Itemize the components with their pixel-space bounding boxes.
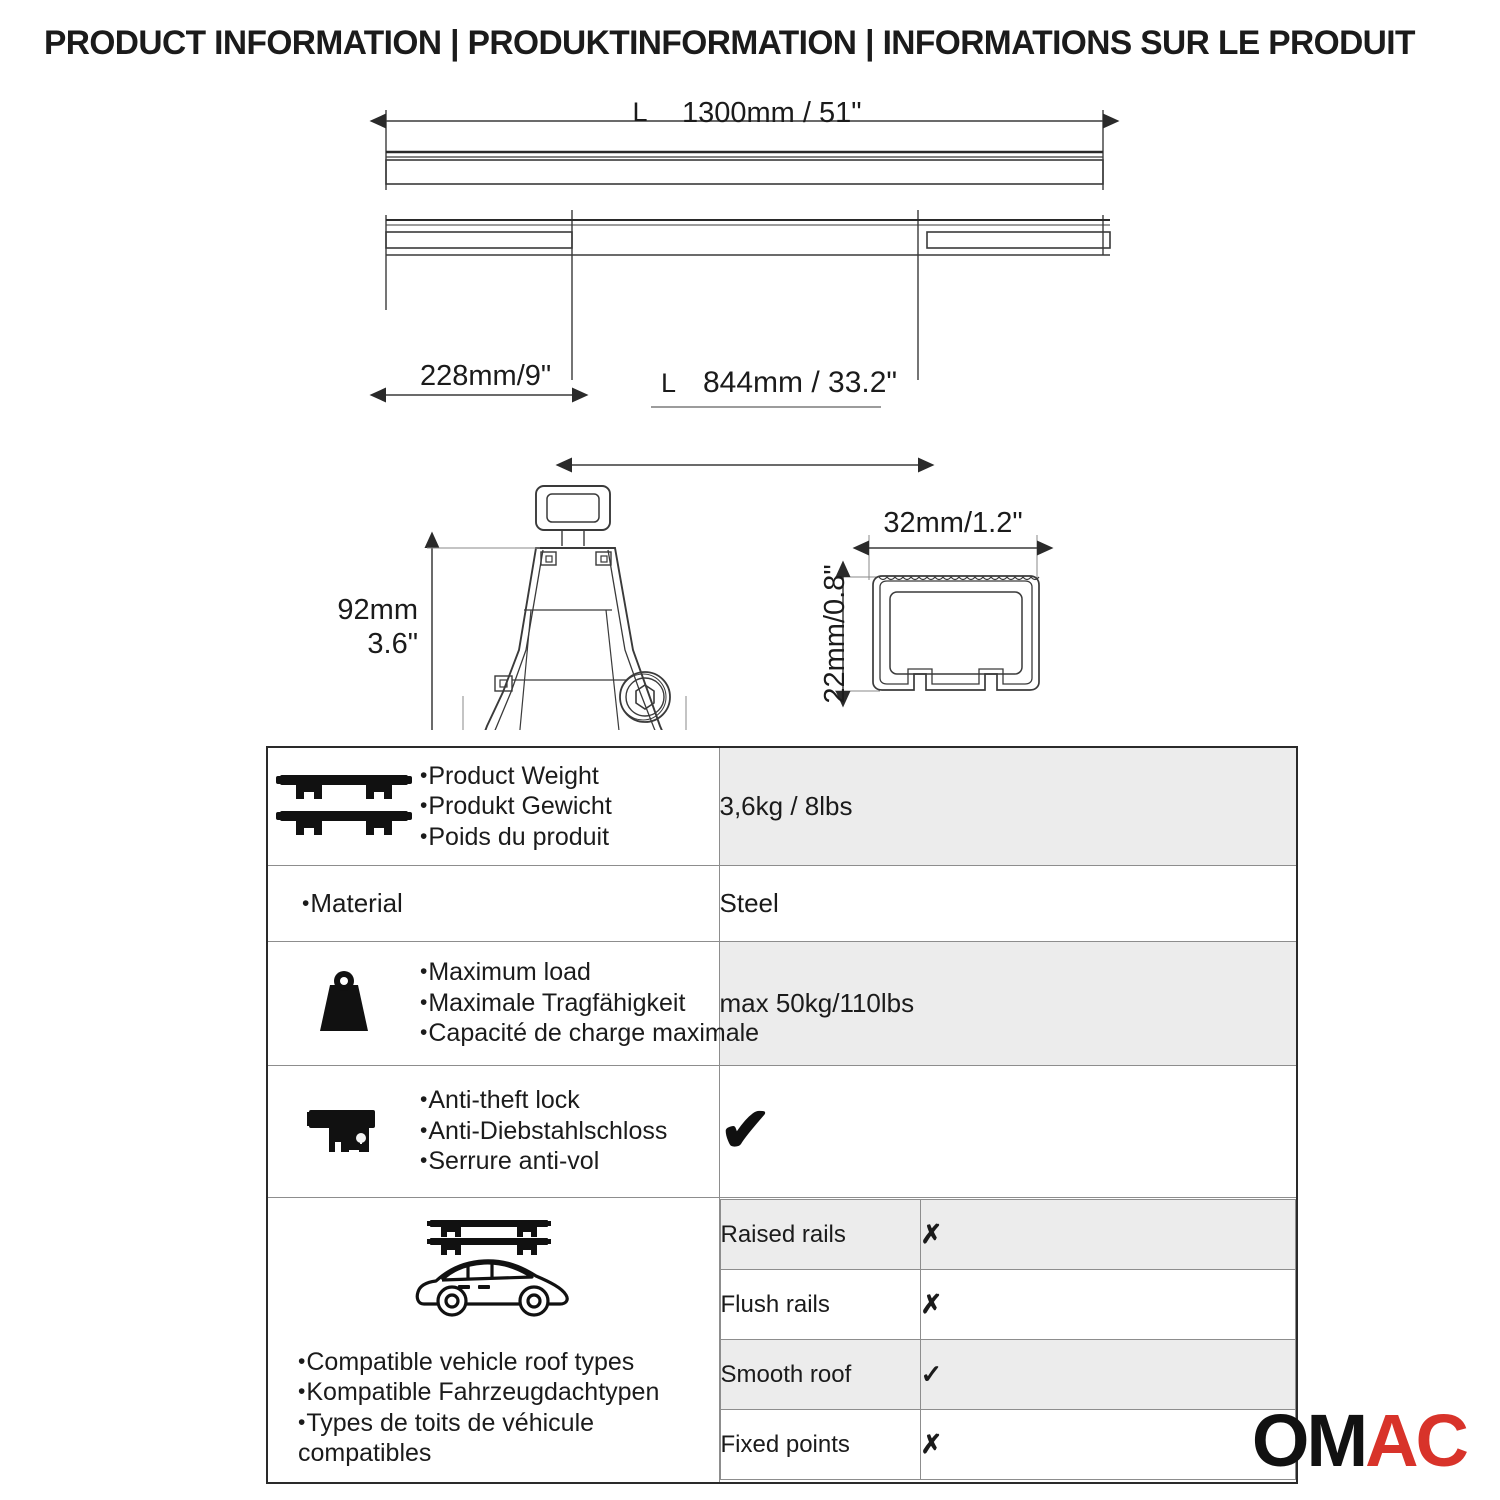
- material-label-cell: Material: [267, 865, 719, 941]
- svg-text:1300mm / 51": 1300mm / 51": [682, 97, 862, 129]
- logo-text-om: OM: [1252, 1404, 1365, 1478]
- antitheft-value: ✔: [719, 1065, 1297, 1197]
- label-fr: Serrure anti-vol: [420, 1146, 717, 1177]
- label-de: Produkt Gewicht: [420, 791, 717, 822]
- weight-labels: Product Weight Produkt Gewicht Poids du …: [420, 761, 719, 853]
- roof-type-support: ✗: [920, 1200, 1296, 1270]
- roof-type-matrix: Raised rails ✗ Flush rails ✗ Smooth roof…: [719, 1197, 1297, 1483]
- label-en: Material: [268, 888, 719, 919]
- table-row: Compatible vehicle roof types Kompatible…: [267, 1197, 1297, 1483]
- table-row: Anti-theft lock Anti-Diebstahlschloss Se…: [267, 1065, 1297, 1197]
- table-row: Material Steel: [267, 865, 1297, 941]
- roof-type-support: ✓: [920, 1340, 1296, 1410]
- roof-type-row: Raised rails ✗: [720, 1200, 1296, 1270]
- svg-text:22mm/0.8": 22mm/0.8": [819, 564, 851, 703]
- label-fr: Types de toits de véhicule compatibles: [298, 1408, 717, 1469]
- compat-labels: Compatible vehicle roof types Kompatible…: [268, 1347, 719, 1469]
- roof-type-row: Flush rails ✗: [720, 1270, 1296, 1340]
- roof-type-name: Fixed points: [720, 1410, 920, 1480]
- svg-text:L: L: [661, 368, 676, 398]
- svg-text:228mm/9": 228mm/9": [420, 360, 551, 392]
- label-de: Maximale Tragfähigkeit: [420, 988, 759, 1019]
- technical-drawing: L 1300mm / 51" 228mm/9" L 844mm / 33.2" …: [0, 80, 1500, 730]
- label-fr: Poids du produit: [420, 822, 717, 853]
- label-de: Kompatible Fahrzeugdachtypen: [298, 1377, 717, 1408]
- omac-logo: OM AC: [1252, 1404, 1466, 1478]
- roof-type-name: Smooth roof: [720, 1340, 920, 1410]
- weight-value: 3,6kg / 8lbs: [719, 747, 1297, 865]
- antitheft-labels: Anti-theft lock Anti-Diebstahlschloss Se…: [420, 1085, 719, 1177]
- material-value: Steel: [719, 865, 1297, 941]
- lock-icon: [268, 1096, 420, 1166]
- compat-label-cell: Compatible vehicle roof types Kompatible…: [267, 1197, 719, 1483]
- product-spec-table: Product Weight Produkt Gewicht Poids du …: [266, 746, 1298, 1484]
- svg-text:92mm: 92mm: [337, 594, 418, 626]
- label-en: Anti-theft lock: [420, 1085, 717, 1116]
- label-fr: Capacité de charge maximale: [420, 1018, 759, 1049]
- roof-type-row: Smooth roof ✓: [720, 1340, 1296, 1410]
- roof-type-support: ✗: [920, 1270, 1296, 1340]
- weight-label-cell: Product Weight Produkt Gewicht Poids du …: [267, 747, 719, 865]
- maxload-label-cell: Maximum load Maximale Tragfähigkeit Capa…: [267, 941, 719, 1065]
- label-de: Anti-Diebstahlschloss: [420, 1116, 717, 1147]
- svg-text:L: L: [632, 97, 647, 127]
- label-en: Maximum load: [420, 957, 759, 988]
- car-with-roofrack-icon: [408, 1212, 578, 1329]
- check-icon: ✔: [720, 1096, 772, 1165]
- svg-text:844mm / 33.2": 844mm / 33.2": [703, 366, 897, 399]
- maxload-labels: Maximum load Maximale Tragfähigkeit Capa…: [420, 957, 761, 1049]
- table-row: Product Weight Produkt Gewicht Poids du …: [267, 747, 1297, 865]
- weight-icon: [268, 963, 420, 1043]
- svg-text:32mm/1.2": 32mm/1.2": [883, 507, 1022, 539]
- page-title: PRODUCT INFORMATION | PRODUKTINFORMATION…: [44, 24, 1435, 63]
- label-en: Compatible vehicle roof types: [298, 1347, 717, 1378]
- logo-text-ac: AC: [1365, 1404, 1466, 1478]
- two-crossbars-icon: [268, 769, 420, 843]
- roof-type-support: ✗: [920, 1410, 1296, 1480]
- roof-type-name: Flush rails: [720, 1270, 920, 1340]
- antitheft-label-cell: Anti-theft lock Anti-Diebstahlschloss Se…: [267, 1065, 719, 1197]
- maxload-value: max 50kg/110lbs: [719, 941, 1297, 1065]
- roof-type-name: Raised rails: [720, 1200, 920, 1270]
- table-row: Maximum load Maximale Tragfähigkeit Capa…: [267, 941, 1297, 1065]
- svg-text:3.6": 3.6": [367, 628, 418, 660]
- label-en: Product Weight: [420, 761, 717, 792]
- roof-type-row: Fixed points ✗: [720, 1410, 1296, 1480]
